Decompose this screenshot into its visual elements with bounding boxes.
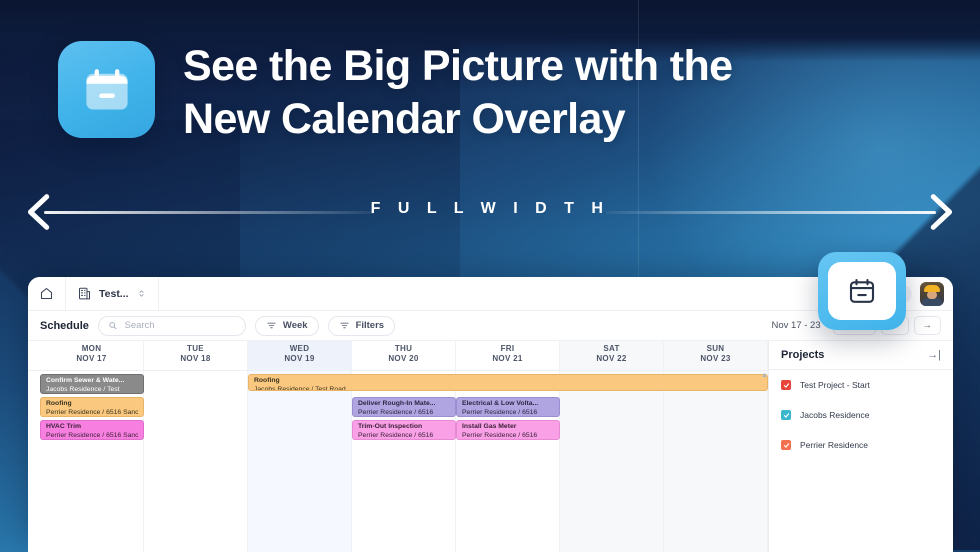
gutter [28, 341, 40, 370]
day-of-week: SUN [664, 344, 767, 353]
day-header-mon[interactable]: MONNOV 17 [40, 341, 144, 370]
day-header-sun[interactable]: SUNNOV 23 [664, 341, 768, 370]
day-header-fri[interactable]: FRINOV 21 [456, 341, 560, 370]
event-subtitle: Jacobs Residence / Test Road [254, 386, 762, 391]
home-icon [39, 286, 54, 301]
day-date: NOV 18 [144, 354, 247, 363]
event-subtitle: Perrier Residence / 6516 Sanctuary Drive [46, 409, 138, 417]
event-subtitle: Perrier Residence / 6516 [462, 409, 554, 417]
app-body: MONNOV 17TUENOV 18WEDNOV 19THUNOV 20FRIN… [28, 341, 953, 552]
chevron-up-down-icon [136, 288, 147, 299]
day-header-thu[interactable]: THUNOV 20 [352, 341, 456, 370]
calendar-event[interactable]: Confirm Sewer & Wate...Jacobs Residence … [40, 374, 144, 394]
hero-title-line2: New Calendar Overlay [183, 93, 823, 146]
app-window: Test... 4 drafts › Schedule [28, 277, 953, 552]
view-dropdown-label: Week [283, 320, 308, 331]
day-of-week: TUE [144, 344, 247, 353]
schedule-toolbar: Schedule Week Filters Nov 17 - 23 Today … [28, 311, 953, 341]
day-header-tue[interactable]: TUENOV 18 [144, 341, 248, 370]
event-subtitle: Jacobs Residence / Test [46, 386, 138, 394]
day-header-row: MONNOV 17TUENOV 18WEDNOV 19THUNOV 20FRIN… [28, 341, 768, 371]
project-checkbox[interactable] [781, 380, 791, 390]
filters-label: Filters [356, 320, 385, 331]
schedule-title: Schedule [40, 320, 89, 332]
projects-list: Test Project - StartJacobs ResidencePerr… [769, 370, 953, 460]
full-width-banner: F U L L W I D T H [0, 180, 980, 242]
day-header-wed[interactable]: WEDNOV 19 [248, 341, 352, 370]
calendar-grid: MONNOV 17TUENOV 18WEDNOV 19THUNOV 20FRIN… [28, 341, 768, 552]
project-name: Perrier Residence [800, 440, 868, 450]
project-checkbox[interactable] [781, 410, 791, 420]
search-input[interactable] [124, 320, 235, 331]
project-list-item[interactable]: Jacobs Residence [769, 400, 953, 430]
hero-calendar-icon [58, 41, 155, 138]
event-title: Electrical & Low Volta... [462, 400, 554, 409]
collapse-right-icon[interactable]: →| [927, 349, 941, 361]
event-title: Roofing [254, 377, 762, 386]
event-title: Roofing [46, 400, 138, 409]
home-button[interactable] [28, 277, 66, 311]
avatar[interactable] [920, 282, 944, 306]
gutter-column [28, 371, 40, 552]
calendar-scrollbar[interactable]: ▲ [762, 373, 766, 551]
day-of-week: MON [40, 344, 143, 353]
calendar-event[interactable]: Electrical & Low Volta...Perrier Residen… [456, 397, 560, 417]
floating-calendar-badge [818, 252, 906, 330]
app-topbar: Test... 4 drafts › [28, 277, 953, 311]
event-subtitle: Perrier Residence / 6516 [358, 432, 450, 440]
projects-panel: Projects →| Test Project - StartJacobs R… [768, 341, 953, 552]
next-week-button[interactable]: → [914, 316, 942, 335]
event-title: Deliver Rough-In Mate... [358, 400, 450, 409]
page-title: See the Big Picture with the New Calenda… [183, 40, 823, 147]
calendar-icon [847, 276, 877, 306]
topbar-spacer [159, 277, 819, 311]
project-name: Test Project - Start [800, 380, 870, 390]
avatar-face [927, 291, 937, 299]
check-icon [783, 442, 790, 449]
check-icon [783, 382, 790, 389]
filters-button[interactable]: Filters [328, 316, 396, 336]
project-list-item[interactable]: Test Project - Start [769, 370, 953, 400]
calendar-event[interactable]: HVAC TrimPerrier Residence / 6516 Sanctu… [40, 420, 144, 440]
day-of-week: SAT [560, 344, 663, 353]
calendar-event[interactable]: Deliver Rough-In Mate...Perrier Residenc… [352, 397, 456, 417]
day-date: NOV 17 [40, 354, 143, 363]
event-title: Trim-Out Inspection [358, 423, 450, 432]
calendar-event[interactable]: Install Gas MeterPerrier Residence / 651… [456, 420, 560, 440]
events-layer: Confirm Sewer & Wate...Jacobs Residence … [40, 371, 768, 552]
project-name: Jacobs Residence [800, 410, 869, 420]
day-header-sat[interactable]: SATNOV 22 [560, 341, 664, 370]
day-date: NOV 19 [248, 354, 351, 363]
event-subtitle: Perrier Residence / 6516 [358, 409, 450, 417]
avatar-body [922, 298, 942, 306]
full-width-label: F U L L W I D T H [0, 200, 980, 218]
project-list-item[interactable]: Perrier Residence [769, 430, 953, 460]
scroll-up-icon[interactable]: ▲ [761, 372, 768, 379]
day-of-week: FRI [456, 344, 559, 353]
date-range-label: Nov 17 - 23 [765, 320, 828, 331]
filter-icon [339, 320, 350, 331]
building-icon [77, 286, 92, 301]
calendar-event[interactable]: RoofingJacobs Residence / Test Road [248, 374, 768, 391]
day-of-week: WED [248, 344, 351, 353]
event-title: Confirm Sewer & Wate... [46, 377, 138, 386]
day-date: NOV 23 [664, 354, 767, 363]
projects-panel-header: Projects →| [769, 341, 953, 370]
day-date: NOV 20 [352, 354, 455, 363]
event-title: HVAC Trim [46, 423, 138, 432]
day-date: NOV 22 [560, 354, 663, 363]
floating-badge-inner [828, 262, 896, 320]
day-of-week: THU [352, 344, 455, 353]
avatar-hardhat [924, 285, 940, 292]
sliders-icon [266, 320, 277, 331]
project-checkbox[interactable] [781, 440, 791, 450]
project-selector-label: Test... [99, 288, 129, 300]
event-subtitle: Perrier Residence / 6516 [462, 432, 554, 440]
event-subtitle: Perrier Residence / 6516 Sanctuary Drive [46, 432, 138, 440]
project-selector[interactable]: Test... [66, 277, 159, 311]
calendar-event[interactable]: RoofingPerrier Residence / 6516 Sanctuar… [40, 397, 144, 417]
search-icon [108, 320, 118, 331]
event-title: Install Gas Meter [462, 423, 554, 432]
hero-title-line1: See the Big Picture with the [183, 42, 732, 90]
search-box[interactable] [98, 316, 246, 336]
view-dropdown[interactable]: Week [255, 316, 319, 336]
calendar-event[interactable]: Trim-Out InspectionPerrier Residence / 6… [352, 420, 456, 440]
day-date: NOV 21 [456, 354, 559, 363]
calendar-icon [81, 64, 133, 116]
projects-title: Projects [781, 349, 824, 361]
check-icon [783, 412, 790, 419]
